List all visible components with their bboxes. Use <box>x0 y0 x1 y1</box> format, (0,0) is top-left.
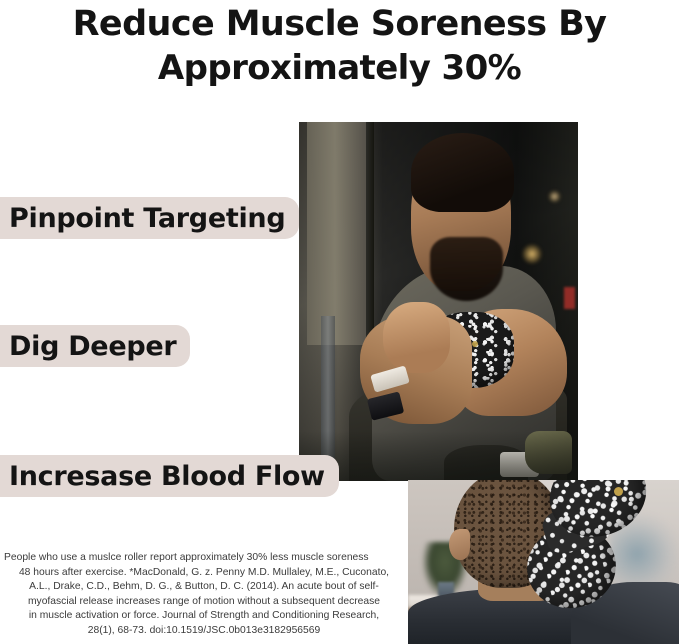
footnote-line-2: 48 hours after exercise. *MacDonald, G. … <box>4 566 404 581</box>
peanut-roller-logo-dot <box>614 487 623 496</box>
footnote-line-5: in muscle activation or force. Journal o… <box>4 609 404 624</box>
feature-pill-pinpoint-targeting: Pinpoint Targeting <box>0 197 299 239</box>
footnote-citation: People who use a muslce roller report ap… <box>4 551 404 639</box>
bokeh-light-one <box>522 244 542 264</box>
person-ear <box>449 529 471 560</box>
footnote-line-6: 28(1), 68-73. doi:10.1519/JSC.0b013e3182… <box>4 624 404 639</box>
footnote-line-1: People who use a muslce roller report ap… <box>4 551 404 566</box>
gym-door <box>307 122 368 345</box>
headline-line-1: Reduce Muscle Soreness By <box>0 2 679 46</box>
athlete-hand <box>383 302 450 374</box>
headline-line-2: Approximately 30% <box>0 46 679 90</box>
secondary-product-photo <box>408 480 679 644</box>
red-equipment-accent <box>564 287 575 309</box>
gym-door-edge <box>366 122 374 352</box>
infographic-canvas: Reduce Muscle Soreness By Approximately … <box>0 0 679 644</box>
feature-pill-label: Dig Deeper <box>9 331 176 362</box>
footnote-line-4: myofascial release increases range of mo… <box>4 595 404 610</box>
footnote-line-3: A.L., Drake, C.D., Behm, D. G., & Button… <box>4 580 404 595</box>
feature-pill-dig-deeper: Dig Deeper <box>0 325 190 367</box>
floor-shadow <box>299 431 578 481</box>
athlete-hair <box>411 133 514 212</box>
athlete-beard <box>430 237 503 302</box>
page-title: Reduce Muscle Soreness By Approximately … <box>0 2 679 90</box>
feature-pill-increase-blood-flow: Incresase Blood Flow <box>0 455 339 497</box>
feature-pill-label: Incresase Blood Flow <box>9 461 325 492</box>
main-product-photo <box>299 122 578 481</box>
roller-logo-dot <box>472 341 478 347</box>
feature-pill-label: Pinpoint Targeting <box>9 203 285 234</box>
